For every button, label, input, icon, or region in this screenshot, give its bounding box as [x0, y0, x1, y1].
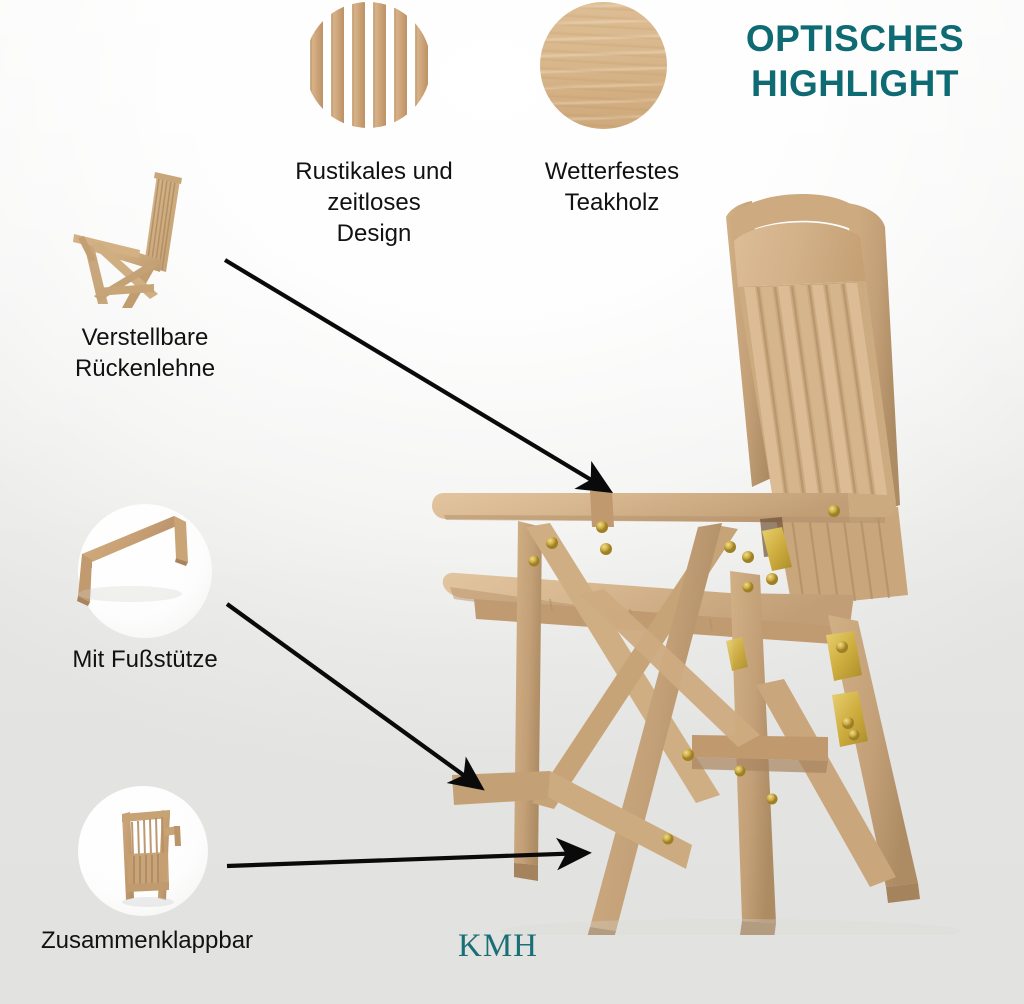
footrest-thumbnail-icon — [68, 506, 228, 616]
rustic-design-line-2: zeitloses — [268, 187, 480, 218]
teak-line-2: Teakholz — [513, 187, 711, 218]
brand-logo-kmh: KMH — [408, 928, 588, 965]
backrest-line-2: Rückenlehne — [32, 353, 258, 384]
headline-line-2: HIGHLIGHT — [700, 61, 1010, 106]
infographic-canvas: OPTISCHES HIGHLIGHT Rustikales und zeitl… — [0, 0, 1024, 1004]
teak-wood-swatch-icon — [540, 2, 667, 129]
feature-label-adjustable-backrest: Verstellbare Rückenlehne — [32, 322, 258, 384]
teak-grain-overlay — [540, 2, 667, 129]
feature-label-weatherproof-teak: Wetterfestes Teakholz — [513, 156, 711, 218]
reclined-chair-thumbnail-icon — [62, 168, 212, 308]
wood-slats-swatch-icon — [305, 2, 431, 128]
foldable-line-1: Zusammenklappbar — [8, 925, 286, 956]
backrest-line-1: Verstellbare — [32, 322, 258, 353]
teak-line-1: Wetterfestes — [513, 156, 711, 187]
headline-line-1: OPTISCHES — [700, 16, 1010, 61]
rustic-design-line-3: Design — [268, 218, 480, 249]
slat-grain-overlay — [305, 2, 431, 128]
rustic-design-line-1: Rustikales und — [268, 156, 480, 187]
folded-chair-thumbnail-icon — [100, 800, 200, 910]
feature-label-footrest: Mit Fußstütze — [30, 644, 260, 675]
product-image-teak-folding-chair — [430, 175, 1024, 935]
feature-label-foldable: Zusammenklappbar — [8, 925, 286, 956]
footrest-line-1: Mit Fußstütze — [30, 644, 260, 675]
page-title: OPTISCHES HIGHLIGHT — [700, 16, 1010, 106]
feature-label-rustic-design: Rustikales und zeitloses Design — [268, 156, 480, 250]
